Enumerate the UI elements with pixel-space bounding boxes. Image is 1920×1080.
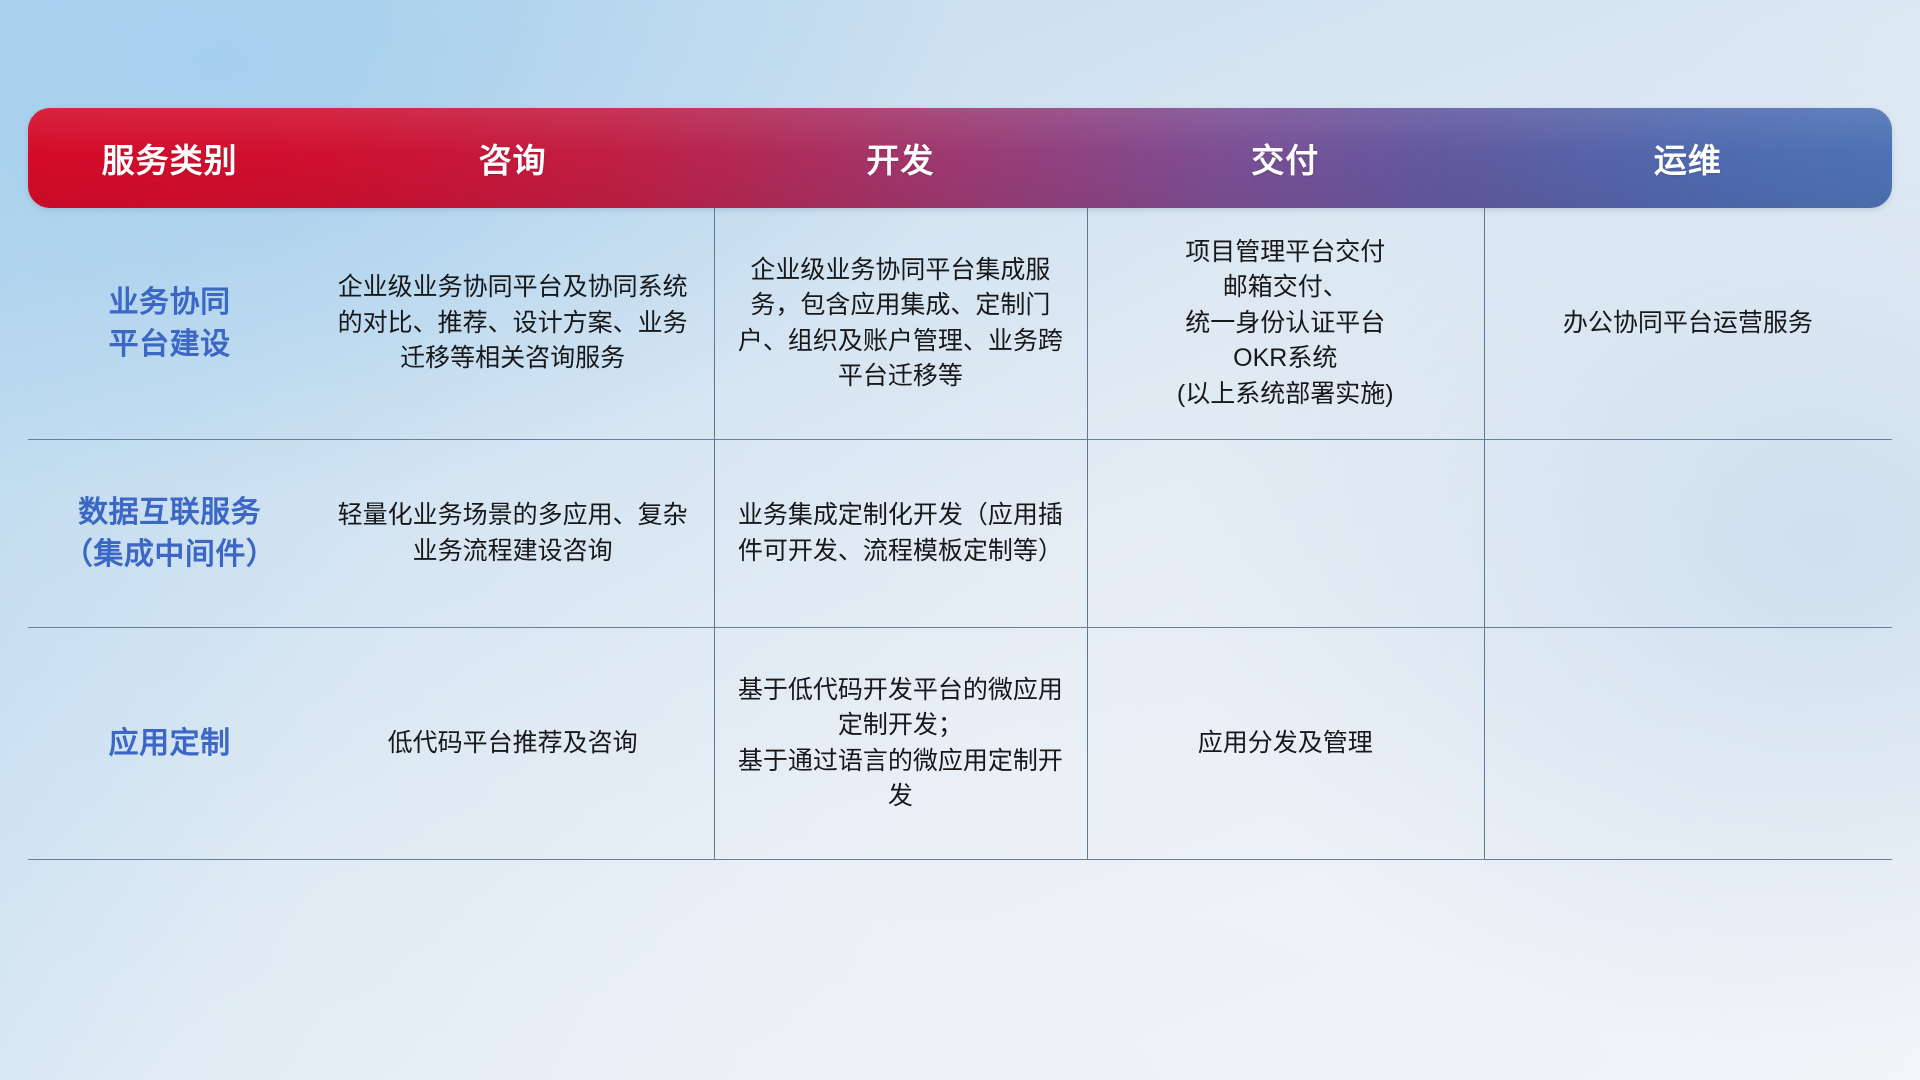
cell-consulting: 轻量化业务场景的多应用、复杂业务流程建设咨询 <box>311 440 714 627</box>
row-category-label: 应用定制 <box>28 628 311 859</box>
column-header-service-category: 服务类别 <box>28 134 311 182</box>
cell-operations: 办公协同平台运营服务 <box>1484 208 1892 439</box>
cell-development: 业务集成定制化开发（应用插件可开发、流程模板定制等） <box>714 440 1087 627</box>
table-body: 业务协同平台建设 企业级业务协同平台及协同系统的对比、推荐、设计方案、业务迁移等… <box>28 208 1892 860</box>
table-row: 应用定制 低代码平台推荐及咨询 基于低代码开发平台的微应用定制开发；基于通过语言… <box>28 628 1892 860</box>
service-matrix-table: 服务类别 咨询 开发 交付 运维 业务协同平台建设 企业级业务协同平台及协同系统… <box>28 108 1892 980</box>
cell-delivery: 应用分发及管理 <box>1087 628 1484 859</box>
column-header-delivery: 交付 <box>1087 134 1484 182</box>
row-category-label: 数据互联服务（集成中间件） <box>28 440 311 627</box>
cell-development: 企业级业务协同平台集成服务，包含应用集成、定制门户、组织及账户管理、业务跨平台迁… <box>714 208 1087 439</box>
table-row: 业务协同平台建设 企业级业务协同平台及协同系统的对比、推荐、设计方案、业务迁移等… <box>28 208 1892 440</box>
column-header-consulting: 咨询 <box>311 134 714 182</box>
cell-consulting: 企业级业务协同平台及协同系统的对比、推荐、设计方案、业务迁移等相关咨询服务 <box>311 208 714 439</box>
table-header-row: 服务类别 咨询 开发 交付 运维 <box>28 108 1892 208</box>
cell-operations <box>1484 440 1892 627</box>
table-row: 数据互联服务（集成中间件） 轻量化业务场景的多应用、复杂业务流程建设咨询 业务集… <box>28 440 1892 628</box>
cell-delivery: 项目管理平台交付邮箱交付、统一身份认证平台OKR系统(以上系统部署实施) <box>1087 208 1484 439</box>
cell-delivery <box>1087 440 1484 627</box>
column-header-operations: 运维 <box>1484 134 1892 182</box>
cell-consulting: 低代码平台推荐及咨询 <box>311 628 714 859</box>
cell-development: 基于低代码开发平台的微应用定制开发；基于通过语言的微应用定制开发 <box>714 628 1087 859</box>
column-header-development: 开发 <box>714 134 1087 182</box>
cell-operations <box>1484 628 1892 859</box>
row-category-label: 业务协同平台建设 <box>28 208 311 439</box>
